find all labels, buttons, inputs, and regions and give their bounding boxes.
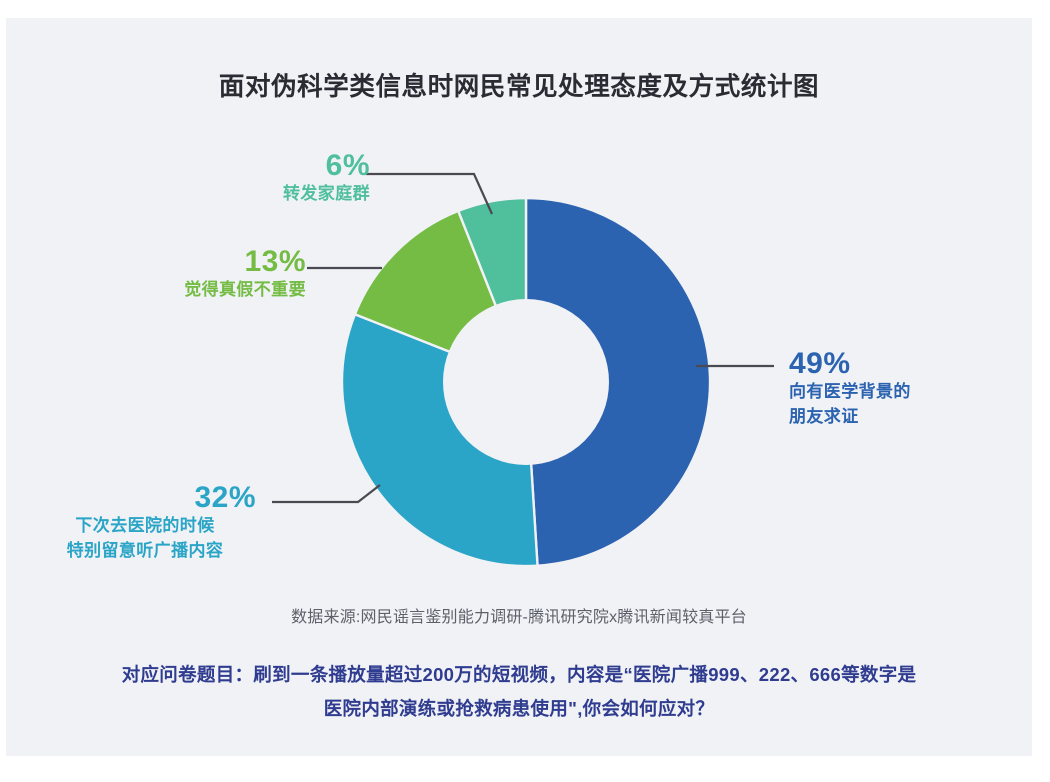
- callout-description-line: 向有医学背景的: [789, 380, 1019, 404]
- callout-description: 觉得真假不重要: [66, 278, 306, 302]
- callout-description-line: 特别留意听广播内容: [16, 539, 274, 563]
- callout-description-line: 转发家庭群: [130, 182, 370, 206]
- infographic-panel: 面对伪科学类信息时网民常见处理态度及方式统计图 6% 转发家庭群 13% 觉得真…: [6, 18, 1032, 756]
- donut-center-hole: [443, 299, 609, 465]
- callout-ask-medical-friend: 49% 向有医学背景的 朋友求证: [789, 348, 1019, 429]
- callout-description: 向有医学背景的 朋友求证: [789, 380, 1019, 428]
- callout-percent: 32%: [16, 482, 274, 514]
- survey-question-line: 对应问卷题目：刷到一条播放量超过200万的短视频，内容是“医院广播999、222…: [6, 658, 1032, 692]
- callout-truth-not-important: 13% 觉得真假不重要: [66, 246, 306, 303]
- callout-description-line: 觉得真假不重要: [66, 278, 306, 302]
- callout-description: 转发家庭群: [130, 182, 370, 206]
- donut-chart: [342, 198, 710, 566]
- survey-question: 对应问卷题目：刷到一条播放量超过200万的短视频，内容是“医院广播999、222…: [6, 658, 1032, 726]
- callout-percent: 6%: [130, 150, 370, 182]
- callout-hospital-radio: 32% 下次去医院的时候 特别留意听广播内容: [16, 482, 274, 563]
- callout-description-line: 下次去医院的时候: [16, 514, 274, 538]
- callout-percent: 49%: [789, 348, 1019, 380]
- callout-forward-family: 6% 转发家庭群: [130, 150, 370, 207]
- callout-description-line: 朋友求证: [789, 405, 1019, 429]
- callout-percent: 13%: [66, 246, 306, 278]
- callout-description: 下次去医院的时候 特别留意听广播内容: [16, 514, 274, 562]
- survey-question-line: 医院内部演练或抢救病患使用",你会如何应对？: [6, 692, 1032, 726]
- donut-chart-svg: [342, 198, 710, 566]
- data-source-note: 数据来源:网民谣言鉴别能力调研-腾讯研究院x腾讯新闻较真平台: [6, 603, 1032, 627]
- page-title: 面对伪科学类信息时网民常见处理态度及方式统计图: [6, 66, 1032, 103]
